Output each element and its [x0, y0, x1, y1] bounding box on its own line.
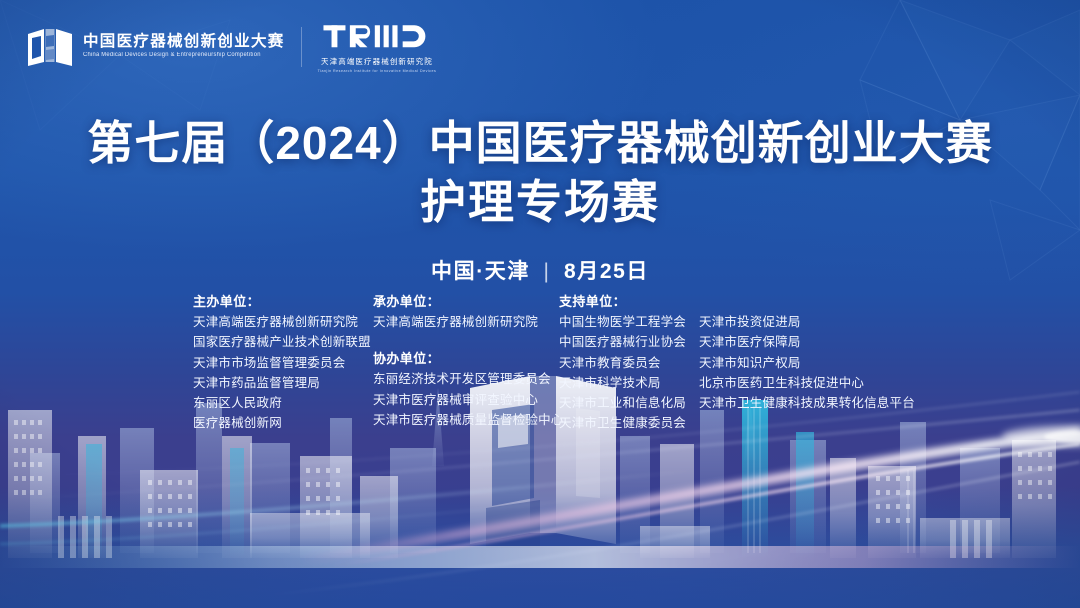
event-date: 8月25日: [564, 260, 649, 283]
supporter-item: 天津市教育委员会: [559, 353, 689, 373]
supporter-item: 天津市知识产权局: [699, 353, 904, 373]
supporter-item: 天津市科学技术局: [559, 373, 689, 393]
host-item: 天津高端医疗器械创新研究院: [193, 312, 373, 332]
host-item: 医疗器械创新网: [193, 413, 373, 433]
supporter-item: 天津市工业和信息化局: [559, 393, 689, 413]
title-line-2: 护理专场赛: [0, 173, 1080, 232]
conference-poster: 中国医疗器械创新创业大赛 China Medical Devices Desig…: [0, 0, 1080, 608]
poster-title: 第七届（2024）中国医疗器械创新创业大赛 护理专场赛: [0, 114, 1080, 232]
supporter-column: 支持单位： 中国生物医学工程学会 中国医疗器械行业协会 天津市教育委员会 天津市…: [559, 291, 904, 434]
organizer-column: 承办单位： 天津高端医疗器械创新研究院 协办单位： 东丽经济技术开发区管理委员会…: [373, 291, 559, 434]
supporter-item: 天津市投资促进局: [699, 312, 904, 332]
supporter-item: 天津市卫生健康委员会: [559, 413, 689, 433]
competition-name-cn: 中国医疗器械创新创业大赛: [83, 34, 285, 50]
host-item: 天津市药品监督管理局: [193, 373, 373, 393]
supporter-item: 北京市医药卫生科技促进中心: [699, 373, 904, 393]
host-heading: 主办单位：: [193, 291, 373, 312]
coorganizer-item: 天津市医疗器械质量监督检验中心: [373, 410, 559, 430]
institute-logo: 天津高端医疗器械创新研究院 Tianjin Research Institute…: [318, 20, 437, 73]
organizer-heading: 承办单位：: [373, 291, 559, 312]
event-location: 中国·天津: [431, 260, 530, 283]
institute-name-cn: 天津高端医疗器械创新研究院: [321, 56, 433, 67]
header-logos: 中国医疗器械创新创业大赛 China Medical Devices Desig…: [26, 20, 436, 73]
supporter-subcolumn-left: 支持单位： 中国生物医学工程学会 中国医疗器械行业协会 天津市教育委员会 天津市…: [559, 291, 689, 434]
coorganizer-heading: 协办单位：: [373, 348, 559, 369]
subtitle-separator: |: [543, 260, 550, 284]
supporter-subcolumn-right: 天津市投资促进局 天津市医疗保障局 天津市知识产权局 北京市医药卫生科技促进中心…: [699, 291, 904, 434]
host-item: 国家医疗器械产业技术创新联盟: [193, 332, 373, 352]
event-subtitle: 中国·天津 | 8月25日: [0, 255, 1080, 285]
coorganizer-item: 天津市医疗器械审评查验中心: [373, 390, 559, 410]
supporter-item: 中国医疗器械行业协会: [559, 332, 689, 352]
column-spacer: [373, 332, 559, 348]
institute-name-en: Tianjin Research Institute for Innovativ…: [318, 69, 437, 73]
host-item: 天津市市场监督管理委员会: [193, 353, 373, 373]
open-door-book-icon: [26, 26, 74, 68]
competition-name-en: China Medical Devices Design & Entrepren…: [83, 52, 279, 58]
host-item: 东丽区人民政府: [193, 393, 373, 413]
host-column: 主办单位： 天津高端医疗器械创新研究院 国家医疗器械产业技术创新联盟 天津市市场…: [193, 291, 373, 434]
title-line-1: 第七届（2024）中国医疗器械创新创业大赛: [0, 114, 1080, 173]
logo-divider: [301, 27, 302, 67]
supporter-item: 中国生物医学工程学会: [559, 312, 689, 332]
coorganizer-item: 东丽经济技术开发区管理委员会: [373, 369, 559, 389]
supporter-item: 天津市卫生健康科技成果转化信息平台: [699, 393, 904, 413]
competition-logo: 中国医疗器械创新创业大赛 China Medical Devices Desig…: [26, 26, 285, 68]
organizer-credits: 主办单位： 天津高端医疗器械创新研究院 国家医疗器械产业技术创新联盟 天津市市场…: [193, 291, 904, 434]
supporter-heading: 支持单位：: [559, 291, 689, 312]
organizer-item: 天津高端医疗器械创新研究院: [373, 312, 559, 332]
triid-wordmark-icon: [322, 20, 432, 54]
supporter-item: 天津市医疗保障局: [699, 332, 904, 352]
